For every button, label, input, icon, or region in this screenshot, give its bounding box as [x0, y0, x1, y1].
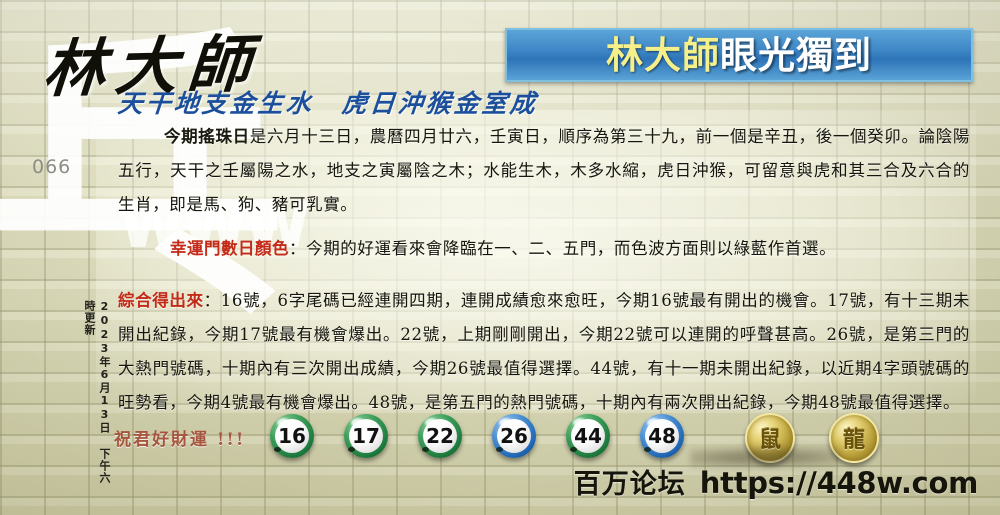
lottery-ball: 17	[344, 414, 388, 458]
paragraph-lucky: 幸運門數日顏色：今期的好運看來會降臨在一、二、五門，而色波方面則以綠藍作首選。	[170, 232, 970, 266]
paragraph-lucky-lead: 幸運門數日顏色	[170, 239, 289, 258]
poster-canvas: 乓 066 www 2023年6月13日 下午六時更新 林大師 天干地支金生水 …	[0, 0, 1000, 515]
paragraph-analysis-lead: 綜合得出來	[118, 291, 204, 310]
lottery-ball-number: 48	[648, 424, 676, 448]
lottery-ball-number: 17	[352, 424, 380, 448]
lottery-ball: 22	[418, 414, 462, 458]
paragraph-analysis: 綜合得出來：16號，6字尾碼已經連開四期，連開成績愈來愈旺，今期16號最有開出的…	[118, 284, 970, 420]
lottery-ball: 26	[492, 414, 536, 458]
lottery-ball-row: 16 17 22 26 44 48	[270, 414, 684, 458]
lottery-ball-number: 16	[278, 424, 306, 448]
headline-banner-text: 林大師眼光獨到	[606, 37, 872, 74]
lottery-ball: 16	[270, 414, 314, 458]
update-date-vertical: 2023年6月13日 下午六時更新	[82, 300, 112, 490]
banner-slogan-text: 眼光獨到	[720, 33, 872, 77]
issue-number: 066	[32, 156, 71, 178]
blessing-text: 祝君好財運 !!!	[114, 425, 245, 450]
zodiac-coin-dragon: 龍	[829, 413, 879, 463]
lottery-ball-number: 44	[574, 424, 602, 448]
banner-brand-text: 林大師	[606, 33, 720, 77]
headline-banner: 林大師眼光獨到	[505, 28, 973, 82]
footer-branding: 百万论坛 https://448w.com	[574, 462, 978, 501]
site-name: 百万论坛	[574, 462, 686, 501]
page-subtitle: 天干地支金生水 虎日沖猴金室成	[116, 84, 539, 120]
paragraph-analysis-text: ：16號，6字尾碼已經連開四期，連開成績愈來愈旺，今期16號最有開出的機會。17…	[118, 291, 970, 412]
lottery-ball-number: 22	[426, 424, 454, 448]
paragraph-intro: 今期搖珠日是六月十三日，農曆四月廿六，壬寅日，順序為第三十九，前一個是辛丑，後一…	[118, 120, 970, 222]
lottery-ball: 44	[566, 414, 610, 458]
zodiac-coin-row: 鼠 龍	[745, 413, 879, 463]
paragraph-intro-lead: 今期搖珠日	[164, 127, 250, 146]
lottery-ball: 48	[640, 414, 684, 458]
lottery-ball-number: 26	[500, 424, 528, 448]
zodiac-coin-rat: 鼠	[745, 413, 795, 463]
paragraph-lucky-text: ：今期的好運看來會降臨在一、二、五門，而色波方面則以綠藍作首選。	[289, 239, 836, 258]
site-url[interactable]: https://448w.com	[700, 466, 978, 500]
